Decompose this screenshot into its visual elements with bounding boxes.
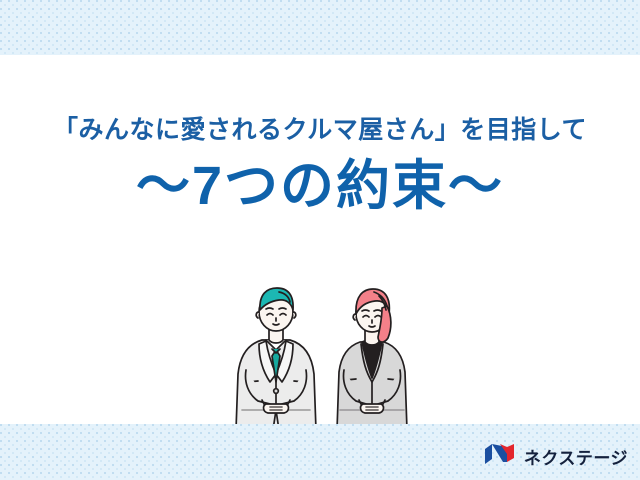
white-content-card: 「みんなに愛されるクルマ屋さん」を目指して ～7つの約束～ xyxy=(0,55,640,424)
male-staff-figure xyxy=(236,288,316,424)
banner-headline: ～7つの約束～ xyxy=(0,157,640,215)
promo-banner: 「みんなに愛されるクルマ屋さん」を目指して ～7つの約束～ xyxy=(0,0,640,480)
nextage-logo[interactable]: ネクステージ xyxy=(483,442,628,471)
female-staff-figure xyxy=(337,289,407,424)
headline-copy-block: 「みんなに愛されるクルマ屋さん」を目指して ～7つの約束～ xyxy=(0,55,640,215)
staff-bowing-illustration xyxy=(232,270,422,424)
nextage-logo-text: ネクステージ xyxy=(524,444,628,469)
banner-subtitle: 「みんなに愛されるクルマ屋さん」を目指して xyxy=(0,117,640,145)
nextage-n-mark-icon xyxy=(483,442,517,471)
